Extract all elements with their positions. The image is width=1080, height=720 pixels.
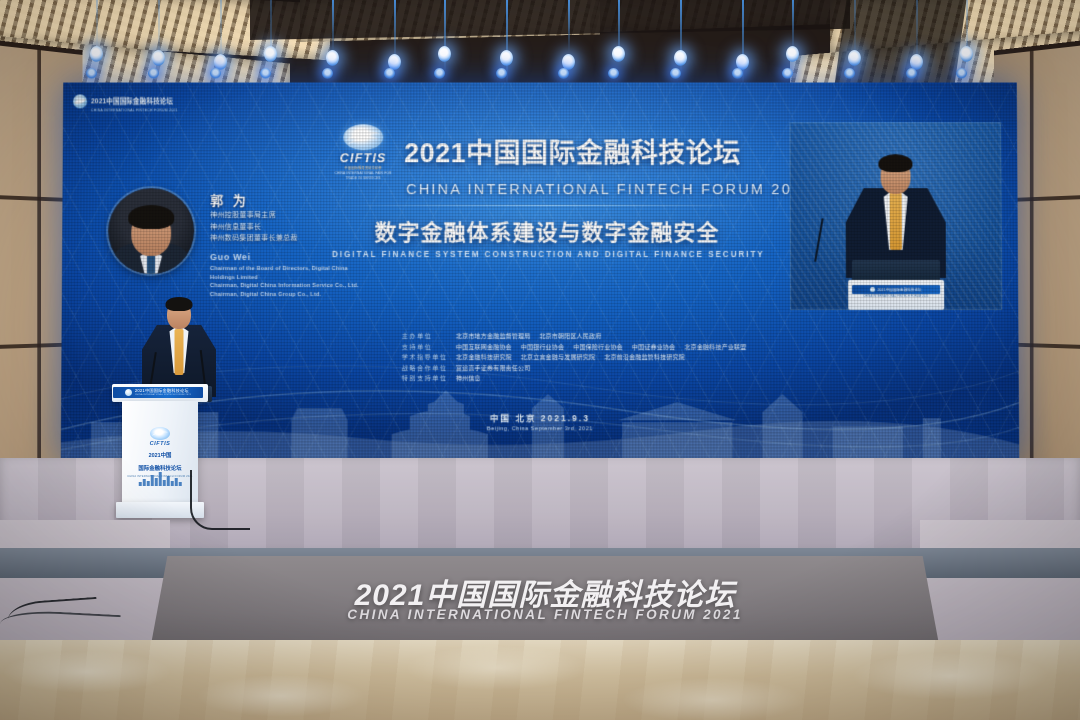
stage-light-icon: [90, 46, 103, 62]
speaker-avatar: [108, 188, 194, 274]
light-beam: [568, 0, 570, 52]
skyline-bar: [151, 475, 154, 486]
header-divider: [338, 205, 762, 206]
ciftis-globe-icon: [125, 389, 132, 396]
stage-light-icon: [558, 68, 569, 79]
podium-skyline-icon: [139, 472, 182, 486]
stage-light-icon: [844, 68, 855, 79]
stage-light-icon: [322, 68, 333, 79]
speaker-title-cn: 神州数码集团董事长兼总裁: [210, 233, 340, 244]
podium-body: CIFTIS 2021中国 国际金融科技论坛 CHINA INTERNATION…: [122, 401, 198, 505]
forum-title-cn: 2021中国国际金融科技论坛: [404, 138, 761, 168]
led-backdrop-screen: 2021中国国际金融科技论坛 CHINA INTERNATIONAL FINTE…: [61, 83, 1019, 461]
stage-front-banner: 2021中国国际金融科技论坛 CHINA INTERNATIONAL FINTE…: [150, 556, 940, 650]
podium-title-cn-line1: 2021中国: [122, 453, 198, 460]
skyline-bar: [159, 472, 162, 486]
stage-light-icon: [210, 68, 221, 79]
feed-podium-band-text: 2021中国国际金融科技论坛: [877, 287, 921, 292]
feed-podium: 2021中国国际金融科技论坛 CHINA INTERNATIONAL FINTE…: [848, 280, 944, 310]
speaker-name-en: Guo Wei: [210, 252, 251, 262]
conference-stage-photo: 2021中国国际金融科技论坛 CHINA INTERNATIONAL FINTE…: [0, 0, 1080, 720]
skyline-bar: [167, 476, 170, 486]
forum-subject-cn: 数字金融体系建设与数字金融安全: [332, 215, 762, 247]
stage-light-icon: [906, 68, 917, 79]
event-location-cn: 中国 北京 2021.9.3: [61, 412, 1019, 424]
ciftis-wordmark: CIFTIS: [332, 151, 394, 165]
stage-light-icon: [786, 46, 799, 62]
stage-light-icon: [496, 68, 507, 79]
light-beam: [332, 0, 334, 52]
podium-band-text-cn: 2021中国国际金融科技论坛CHINA INTERNATIONAL FINTEC…: [135, 388, 191, 398]
podium-logo: CIFTIS 2021中国 国际金融科技论坛 CHINA INTERNATION…: [122, 427, 198, 478]
organizer-value: 神州信息: [456, 374, 490, 385]
stage-light-icon: [608, 68, 619, 79]
speaker-titles-en: Chairman of the Board of Directors, Digi…: [210, 265, 350, 299]
organizer-label: 学术指导单位: [402, 353, 448, 364]
stage-light-icon: [732, 68, 743, 79]
light-beam: [792, 0, 794, 52]
speaker-title-en: Holdings Limited: [210, 274, 350, 283]
stage-light-icon: [86, 68, 97, 79]
stage-banner-title-en: CHINA INTERNATIONAL FINTECH FORUM 2021: [150, 607, 940, 622]
ciftis-sub-en: CHINA INTERNATIONAL FAIR FOR TRADE IN SE…: [332, 171, 394, 181]
ceiling-recess: [250, 0, 850, 40]
forum-title-en: CHINA INTERNATIONAL FINTECH FORUM 2021: [332, 182, 762, 198]
ciftis-globe-icon: [73, 94, 87, 108]
stage-light-icon: [956, 68, 967, 79]
speaker-title-en: Chairman, Digital China Information Serv…: [210, 282, 350, 291]
podium-top: 2021中国国际金融科技论坛CHINA INTERNATIONAL FINTEC…: [112, 384, 208, 402]
organizer-value: 北京市地方金融监督管理局北京市朝阳区人民政府: [456, 332, 611, 343]
stage-light-icon: [612, 46, 625, 62]
forum-header: CIFTIS 中国国际服务贸易交易会 CHINA INTERNATIONAL F…: [332, 124, 762, 259]
organizer-row: 学术指导单位北京金融科技研究院北京立言金融与发展研究院北京前沿金融监管科技研究院: [402, 353, 823, 364]
ciftis-logo: CIFTIS 中国国际服务贸易交易会 CHINA INTERNATIONAL F…: [332, 124, 394, 181]
stage-light-icon: [434, 68, 445, 79]
stage-light-icon: [326, 50, 339, 66]
screen-corner-logo: 2021中国国际金融科技论坛 CHINA INTERNATIONAL FINTE…: [73, 90, 178, 112]
stage-floor-right: [920, 520, 1080, 650]
skyline-bar: [139, 482, 142, 486]
speaker-title-cn: 神州控股董事局主席: [210, 210, 340, 221]
stage-light-icon: [384, 68, 395, 79]
stage-light-icon: [148, 68, 159, 79]
presenter-at-podium: [140, 300, 218, 396]
speaker-title-en: Chairman of the Board of Directors, Digi…: [210, 265, 350, 274]
ceiling: [0, 0, 1080, 92]
ciftis-globe-icon: [870, 287, 875, 292]
organizer-row: 战略合作单位富途高手证券有限责任公司: [402, 364, 823, 375]
event-location-date: 中国 北京 2021.9.3 Beijing, China September …: [61, 412, 1019, 432]
organizer-value: 富途高手证券有限责任公司: [456, 364, 540, 375]
feed-presenter: [844, 158, 948, 276]
stage-light-icon: [438, 46, 451, 62]
stage-cable: [190, 470, 250, 530]
light-beam: [444, 0, 446, 76]
feed-podium-sub-text: CHINA INTERNATIONAL FINTECH FORUM 2021: [848, 295, 944, 298]
stage-light-icon: [960, 46, 973, 62]
organizer-label: 战略合作单位: [402, 364, 448, 375]
speaker-name-cn: 郭 为: [210, 190, 249, 209]
skyline-bar: [163, 480, 166, 486]
organizer-value: 中国互联网金融协会中国银行业协会中国保险行业协会中国证券业协会北京金融科技产业联…: [456, 343, 756, 354]
organizer-row: 主办单位北京市地方金融监督管理局北京市朝阳区人民政府: [402, 332, 822, 343]
stage-light-icon: [670, 68, 681, 79]
skyline-bar: [175, 478, 178, 486]
podium-band-text-en: CHINA INTERNATIONAL FINTECH FORUM 2021: [135, 393, 191, 398]
stage-light-icon: [152, 50, 165, 66]
podium-banner: 2021中国国际金融科技论坛CHINA INTERNATIONAL FINTEC…: [113, 387, 203, 398]
speaker-title-en: Chairman, Digital China Group Co., Ltd.: [210, 291, 350, 300]
speaker-title-cn: 神州信息董事长: [210, 222, 340, 233]
forum-subject-en: DIGITAL FINANCE SYSTEM CONSTRUCTION AND …: [332, 250, 762, 259]
organizer-row: 特别支持单位神州信息: [402, 374, 823, 385]
stage-light-icon: [782, 68, 793, 79]
podium-wordmark: CIFTIS: [122, 441, 198, 447]
stage-light-icon: [500, 50, 513, 66]
organizer-list: 主办单位北京市地方金融监督管理局北京市朝阳区人民政府支持单位中国互联网金融协会中…: [402, 332, 823, 385]
skyline-bar: [155, 478, 158, 486]
corner-logo-title-cn: 2021中国国际金融科技论坛: [91, 98, 173, 105]
skyline-bar: [147, 481, 150, 486]
stage-light-icon: [260, 68, 271, 79]
live-camera-feed-panel: 2021中国国际金融科技论坛 CHINA INTERNATIONAL FINTE…: [789, 122, 1002, 310]
event-location-en: Beijing, China September 3rd, 2021: [61, 426, 1019, 432]
feed-laptop: [852, 260, 940, 282]
organizer-value: 北京金融科技研究院北京立言金融与发展研究院北京前沿金融监管科技研究院: [456, 353, 694, 364]
skyline-bar: [171, 481, 174, 486]
organizer-row: 支持单位中国互联网金融协会中国银行业协会中国保险行业协会中国证券业协会北京金融科…: [402, 343, 822, 354]
stage-light-icon: [848, 50, 861, 66]
corner-logo-title-en: CHINA INTERNATIONAL FINTECH FORUM 2021: [91, 108, 178, 112]
ciftis-globe-icon: [343, 124, 383, 150]
skyline-bar: [143, 479, 146, 486]
organizer-label: 支持单位: [402, 343, 448, 354]
speaker-titles-cn: 神州控股董事局主席 神州信息董事长 神州数码集团董事长兼总裁: [210, 210, 340, 244]
stage-light-icon: [674, 50, 687, 66]
stage-light-icon: [264, 46, 277, 62]
skyline-bar: [179, 482, 182, 486]
organizer-label: 主办单位: [402, 332, 448, 343]
hall-carpet: [0, 640, 1080, 720]
floor-cable: [0, 609, 121, 645]
organizer-label: 特别支持单位: [402, 374, 448, 385]
ciftis-globe-icon: [150, 427, 170, 440]
light-beam: [96, 0, 98, 52]
